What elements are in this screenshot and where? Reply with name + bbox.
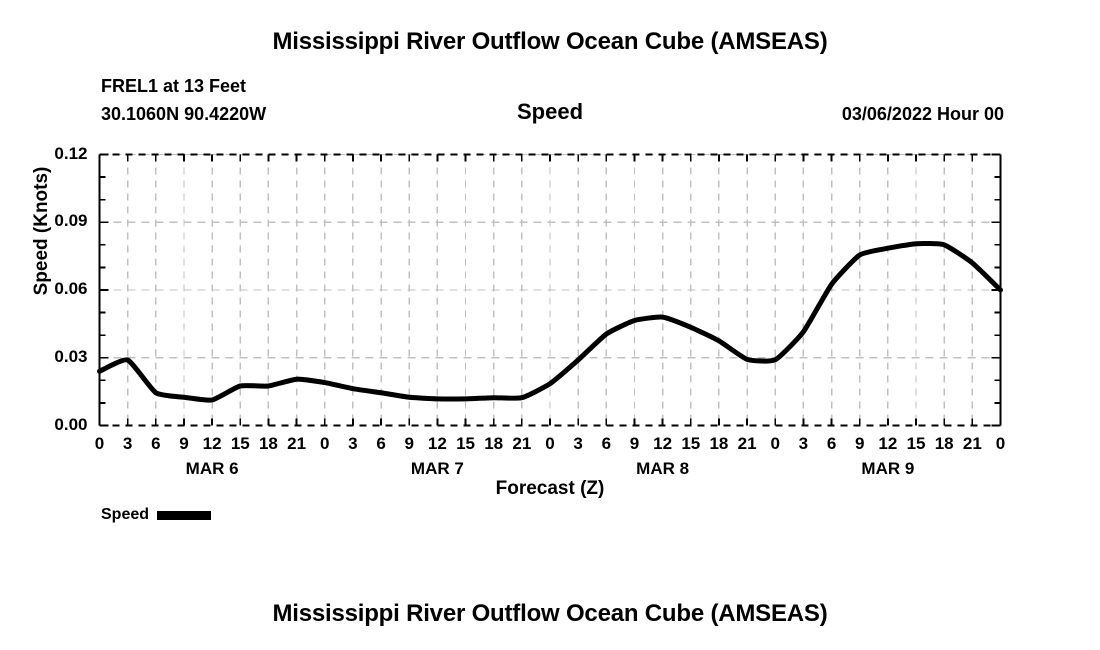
x-axis-label: Forecast (Z) — [0, 478, 1100, 500]
x-axis-day-label: MAR 7 — [377, 459, 497, 479]
chart-svg — [0, 0, 1100, 650]
legend-line-swatch — [157, 511, 211, 520]
legend: Speed — [101, 506, 211, 524]
plot-area: Speed (Knots) Forecast (Z) 0.000.030.060… — [0, 0, 1100, 650]
x-tick-label: 0 — [981, 434, 1021, 454]
x-axis-day-label: MAR 6 — [152, 459, 272, 479]
y-tick-label: 0.03 — [28, 347, 88, 367]
chart-page: Mississippi River Outflow Ocean Cube (AM… — [0, 0, 1100, 650]
x-axis-day-label: MAR 9 — [828, 459, 948, 479]
legend-label: Speed — [101, 506, 149, 524]
y-tick-label: 0.09 — [28, 211, 88, 231]
y-tick-label: 0.06 — [28, 279, 88, 299]
y-tick-label: 0.12 — [28, 144, 88, 164]
page-title-bottom: Mississippi River Outflow Ocean Cube (AM… — [0, 600, 1100, 628]
y-tick-label: 0.00 — [28, 415, 88, 435]
x-axis-day-label: MAR 8 — [603, 459, 723, 479]
